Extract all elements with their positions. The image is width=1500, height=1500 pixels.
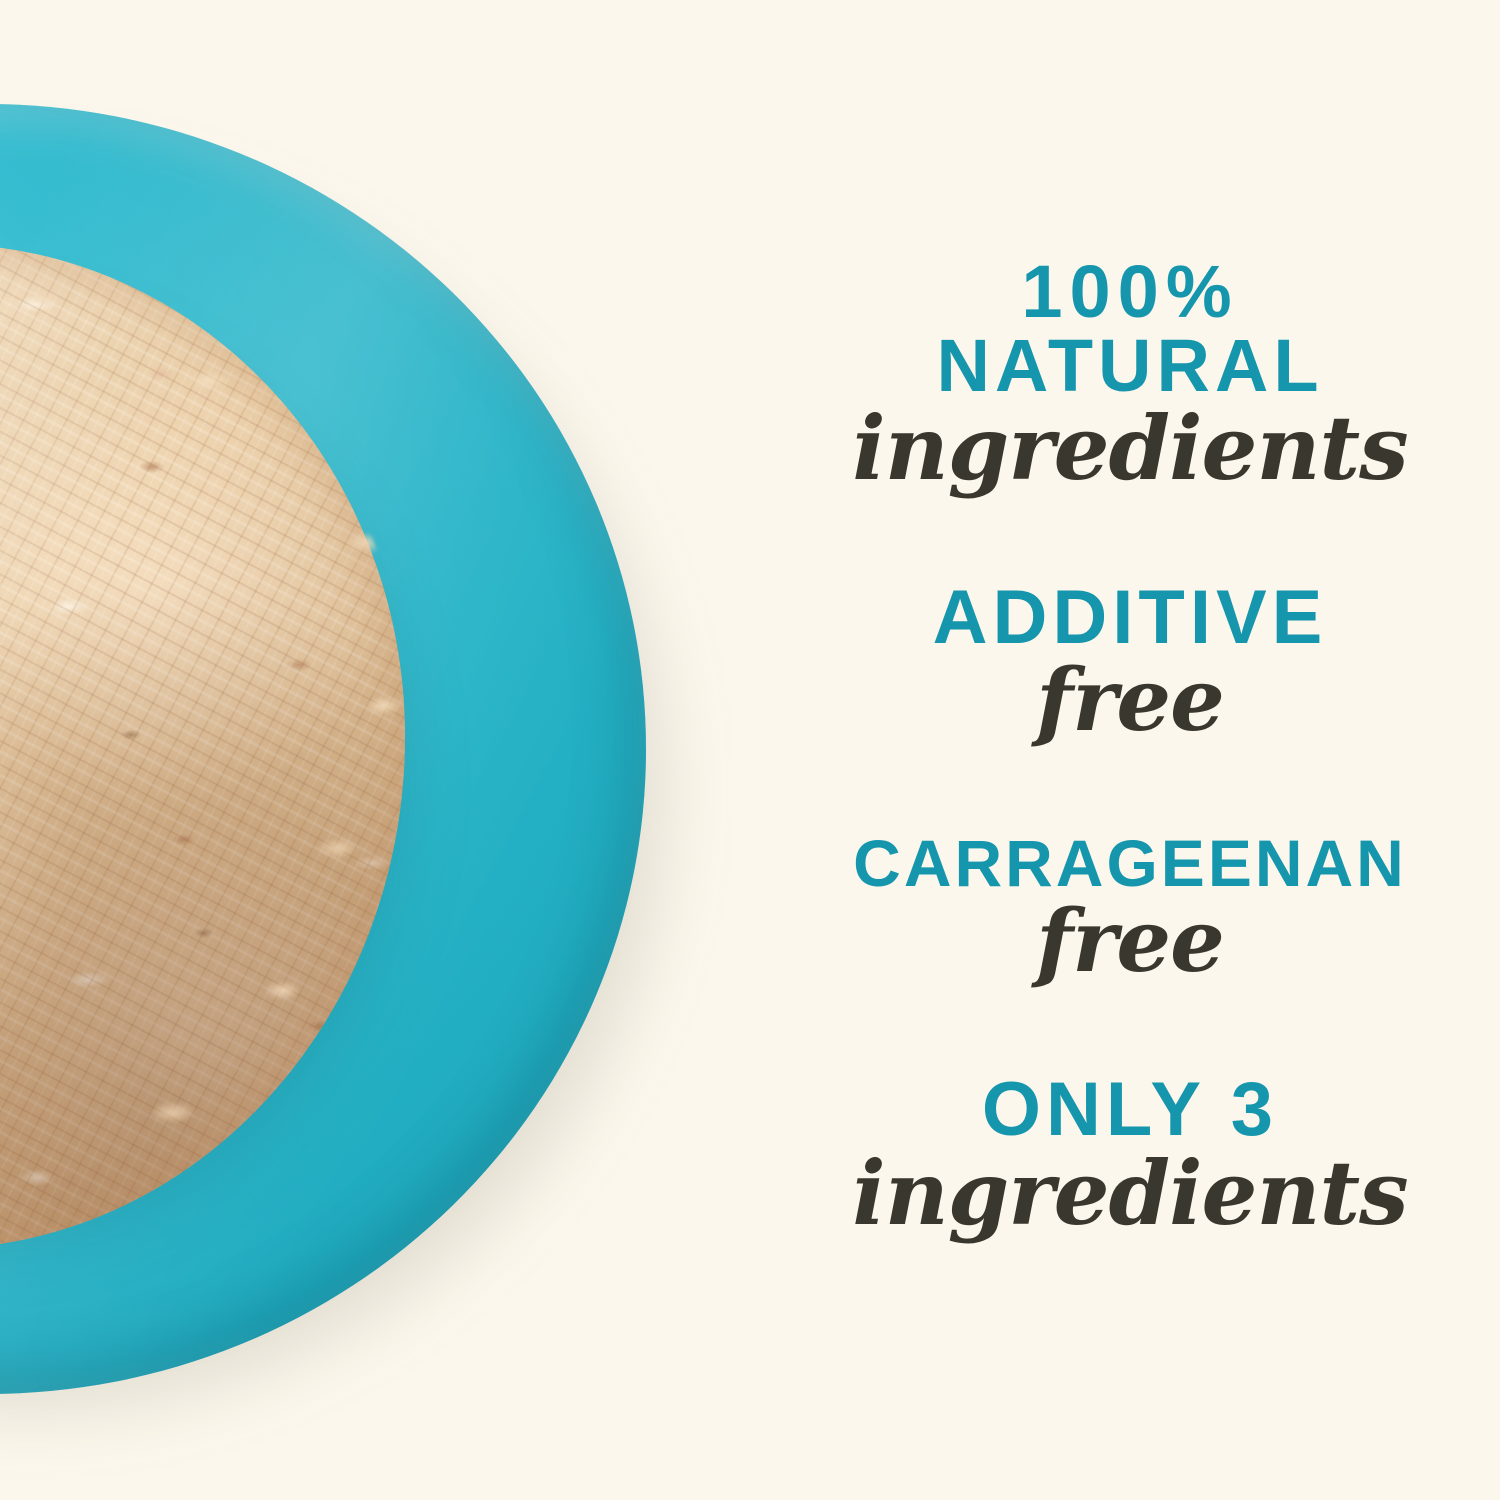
- claim-carrageenan: CARRAGEENAN free: [760, 831, 1500, 986]
- claim-natural-lead: 100%: [760, 255, 1500, 328]
- claim-natural-headline: 100% NATURAL: [760, 255, 1500, 402]
- claim-carrageenan-script: free: [760, 898, 1500, 986]
- claim-additive-headline: ADDITIVE: [760, 580, 1500, 655]
- claim-natural: 100% NATURAL ingredients: [760, 255, 1500, 493]
- product-photo: [0, 0, 760, 1500]
- shredded-fish-food: [0, 244, 405, 1249]
- claims-list: 100% NATURAL ingredients ADDITIVE free C…: [760, 0, 1500, 1500]
- claim-only-3: ONLY 3 ingredients: [760, 1072, 1500, 1239]
- claim-carrageenan-headline: CARRAGEENAN: [760, 831, 1500, 896]
- claim-natural-word: NATURAL: [936, 324, 1323, 407]
- claim-natural-script: ingredients: [760, 404, 1500, 494]
- claim-additive: ADDITIVE free: [760, 580, 1500, 745]
- claim-only-3-script: ingredients: [760, 1149, 1500, 1239]
- product-claim-graphic: 100% NATURAL ingredients ADDITIVE free C…: [0, 0, 1500, 1500]
- claim-only-3-headline: ONLY 3: [760, 1072, 1500, 1147]
- claim-additive-script: free: [760, 657, 1500, 745]
